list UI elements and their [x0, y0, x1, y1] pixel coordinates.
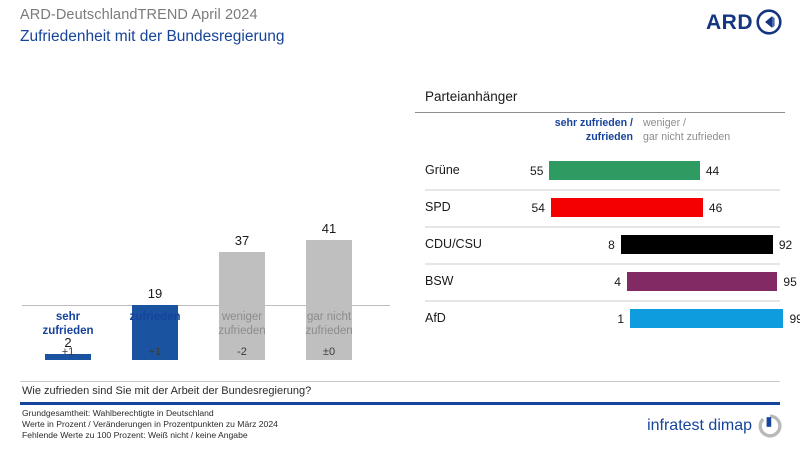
- category-label-line: zufrieden: [113, 310, 197, 324]
- chart-page: ARD-DeutschlandTREND April 2024 Zufriede…: [0, 0, 800, 450]
- party-row-list: Grüne5544SPD5446CDU/CSU892BSW495AfD199: [415, 152, 785, 337]
- infratest-dimap-text: infratest dimap: [647, 418, 752, 434]
- party-value-dissatisfied: 99: [789, 312, 800, 326]
- party-value-satisfied: 8: [567, 238, 615, 252]
- category-label-line: zufrieden: [26, 324, 110, 338]
- bar-zufrieden: 19: [132, 205, 178, 360]
- bar-column: [219, 252, 265, 360]
- question-top-rule: [20, 381, 780, 382]
- party-panel: Parteianhänger: [415, 88, 785, 106]
- bar-value-label: 41: [306, 221, 352, 236]
- category-label-line: weniger: [200, 310, 284, 324]
- question-bottom-rule: [20, 402, 780, 405]
- bar-value-label: 37: [219, 233, 265, 248]
- column-header-dissatisfied: weniger / gar nicht zufrieden: [643, 117, 793, 144]
- party-value-dissatisfied: 44: [706, 164, 754, 178]
- party-bar-segment-dissatisfied: [633, 309, 783, 328]
- party-bar-segment-dissatisfied: [633, 198, 703, 217]
- delta-label-sehr-zufrieden: +1: [26, 346, 110, 358]
- party-bar-segment-satisfied: [549, 161, 634, 180]
- party-value-dissatisfied: 92: [779, 238, 800, 252]
- category-label-line: gar nicht: [287, 310, 371, 324]
- ard-logo: ARD: [706, 9, 782, 35]
- party-bar-track: 199: [415, 309, 785, 328]
- party-bar-track: 5544: [415, 161, 785, 180]
- category-label-line: zufrieden: [200, 324, 284, 338]
- party-column-headers: sehr zufrieden / zufrieden weniger / gar…: [415, 117, 785, 151]
- party-bar-track: 495: [415, 272, 785, 291]
- party-value-dissatisfied: 46: [709, 201, 757, 215]
- party-row: Grüne5544: [415, 152, 785, 189]
- party-row: CDU/CSU892: [415, 226, 785, 263]
- party-bar-track: 892: [415, 235, 785, 254]
- party-bar-segment-satisfied: [621, 235, 634, 254]
- row-separator: [425, 263, 780, 265]
- delta-label-weniger-zufrieden: -2: [200, 346, 284, 358]
- bar-column: [306, 240, 352, 360]
- category-label-zufrieden: zufrieden: [113, 310, 197, 324]
- party-row: SPD5446: [415, 189, 785, 226]
- party-row: AfD199: [415, 300, 785, 337]
- category-label-sehr-zufrieden: sehrzufrieden: [26, 310, 110, 338]
- party-value-satisfied: 55: [495, 164, 543, 178]
- bar-value-label: 19: [132, 286, 178, 301]
- party-bar-segment-satisfied: [551, 198, 634, 217]
- party-bar-segment-dissatisfied: [633, 272, 777, 291]
- delta-label-gar-nicht-zufrieden: ±0: [287, 346, 371, 358]
- row-separator: [425, 300, 780, 302]
- footnote-3: Fehlende Werte zu 100 Prozent: Weiß nich…: [22, 430, 278, 441]
- page-title: ARD-DeutschlandTREND April 2024 Zufriede…: [20, 6, 285, 47]
- footnotes: Grundgesamtheit: Wahlberechtigte in Deut…: [22, 408, 278, 442]
- category-label-gar-nicht-zufrieden: gar nichtzufrieden: [287, 310, 371, 338]
- category-label-weniger-zufrieden: wenigerzufrieden: [200, 310, 284, 338]
- page-supertitle: ARD-DeutschlandTREND April 2024: [20, 6, 285, 25]
- column-header-satisfied: sehr zufrieden / zufrieden: [500, 117, 633, 144]
- infratest-dimap-mark-icon: [758, 414, 782, 438]
- party-row: BSW495: [415, 263, 785, 300]
- party-value-satisfied: 1: [576, 312, 624, 326]
- row-separator: [425, 226, 780, 228]
- ard-logo-text: ARD: [706, 12, 753, 33]
- satisfaction-bar-chart: 2193741 sehrzufriedenzufriedenwenigerzuf…: [0, 150, 400, 360]
- panel-top-rule: [415, 112, 785, 113]
- category-label-line: zufrieden: [287, 324, 371, 338]
- ard-circle-icon: [756, 9, 782, 35]
- party-bar-segment-dissatisfied: [633, 161, 700, 180]
- party-panel-title: Parteianhänger: [415, 88, 785, 106]
- row-separator: [425, 189, 780, 191]
- party-value-satisfied: 4: [573, 275, 621, 289]
- party-value-satisfied: 54: [497, 201, 545, 215]
- delta-label-zufrieden: +1: [113, 346, 197, 358]
- party-value-dissatisfied: 95: [783, 275, 800, 289]
- party-bar-segment-dissatisfied: [633, 235, 773, 254]
- party-bar-track: 5446: [415, 198, 785, 217]
- footnote-1: Grundgesamtheit: Wahlberechtigte in Deut…: [22, 408, 278, 419]
- footnote-2: Werte in Prozent / Veränderungen in Proz…: [22, 419, 278, 430]
- category-label-line: sehr: [26, 310, 110, 324]
- page-main-title: Zufriedenheit mit der Bundesregierung: [20, 26, 285, 47]
- infratest-dimap-logo: infratest dimap: [647, 414, 782, 438]
- survey-question: Wie zufrieden sind Sie mit der Arbeit de…: [22, 385, 311, 397]
